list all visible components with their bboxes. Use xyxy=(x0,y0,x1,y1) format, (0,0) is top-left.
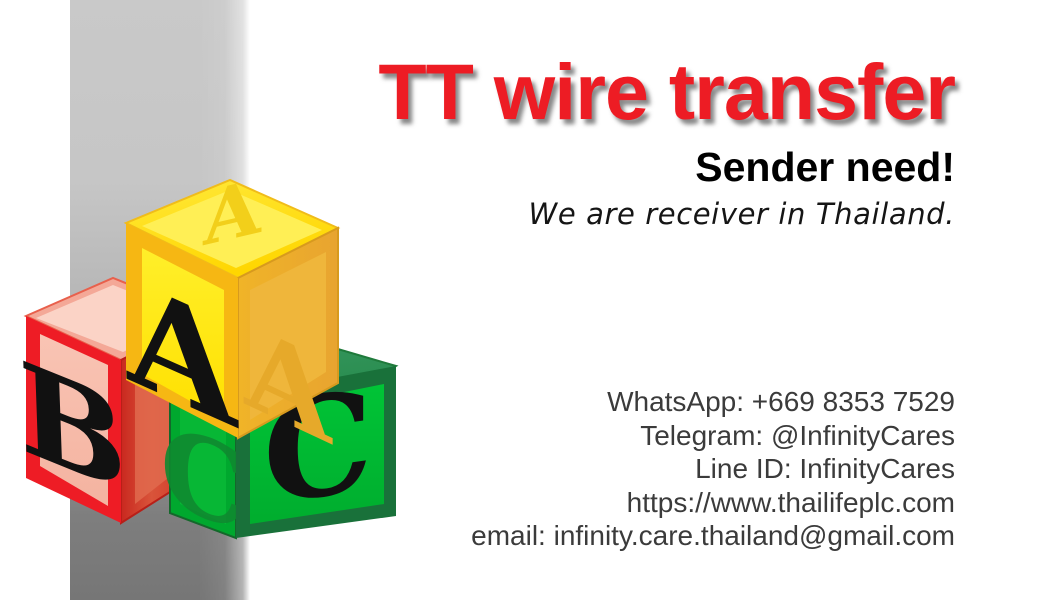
contact-line-website[interactable]: https://www.thailifeplc.com xyxy=(255,486,955,520)
contact-line-lineid: Line ID: InfinityCares xyxy=(255,452,955,486)
contact-line-telegram: Telegram: @InfinityCares xyxy=(255,419,955,453)
subtitle: Sender need! xyxy=(255,129,955,189)
contact-line-email[interactable]: email: infinity.care.thailand@gmail.com xyxy=(255,519,955,553)
page-title: TT wire transfer xyxy=(255,0,955,129)
svg-text:A: A xyxy=(202,168,262,263)
business-card-canvas: B C C xyxy=(0,0,1063,600)
contact-line-whatsapp: WhatsApp: +669 8353 7529 xyxy=(255,385,955,419)
contact-details: WhatsApp: +669 8353 7529 Telegram: @Infi… xyxy=(255,385,955,553)
tagline: We are receiver in Thailand. xyxy=(255,189,955,231)
headline-group: TT wire transfer Sender need! We are rec… xyxy=(255,0,955,231)
